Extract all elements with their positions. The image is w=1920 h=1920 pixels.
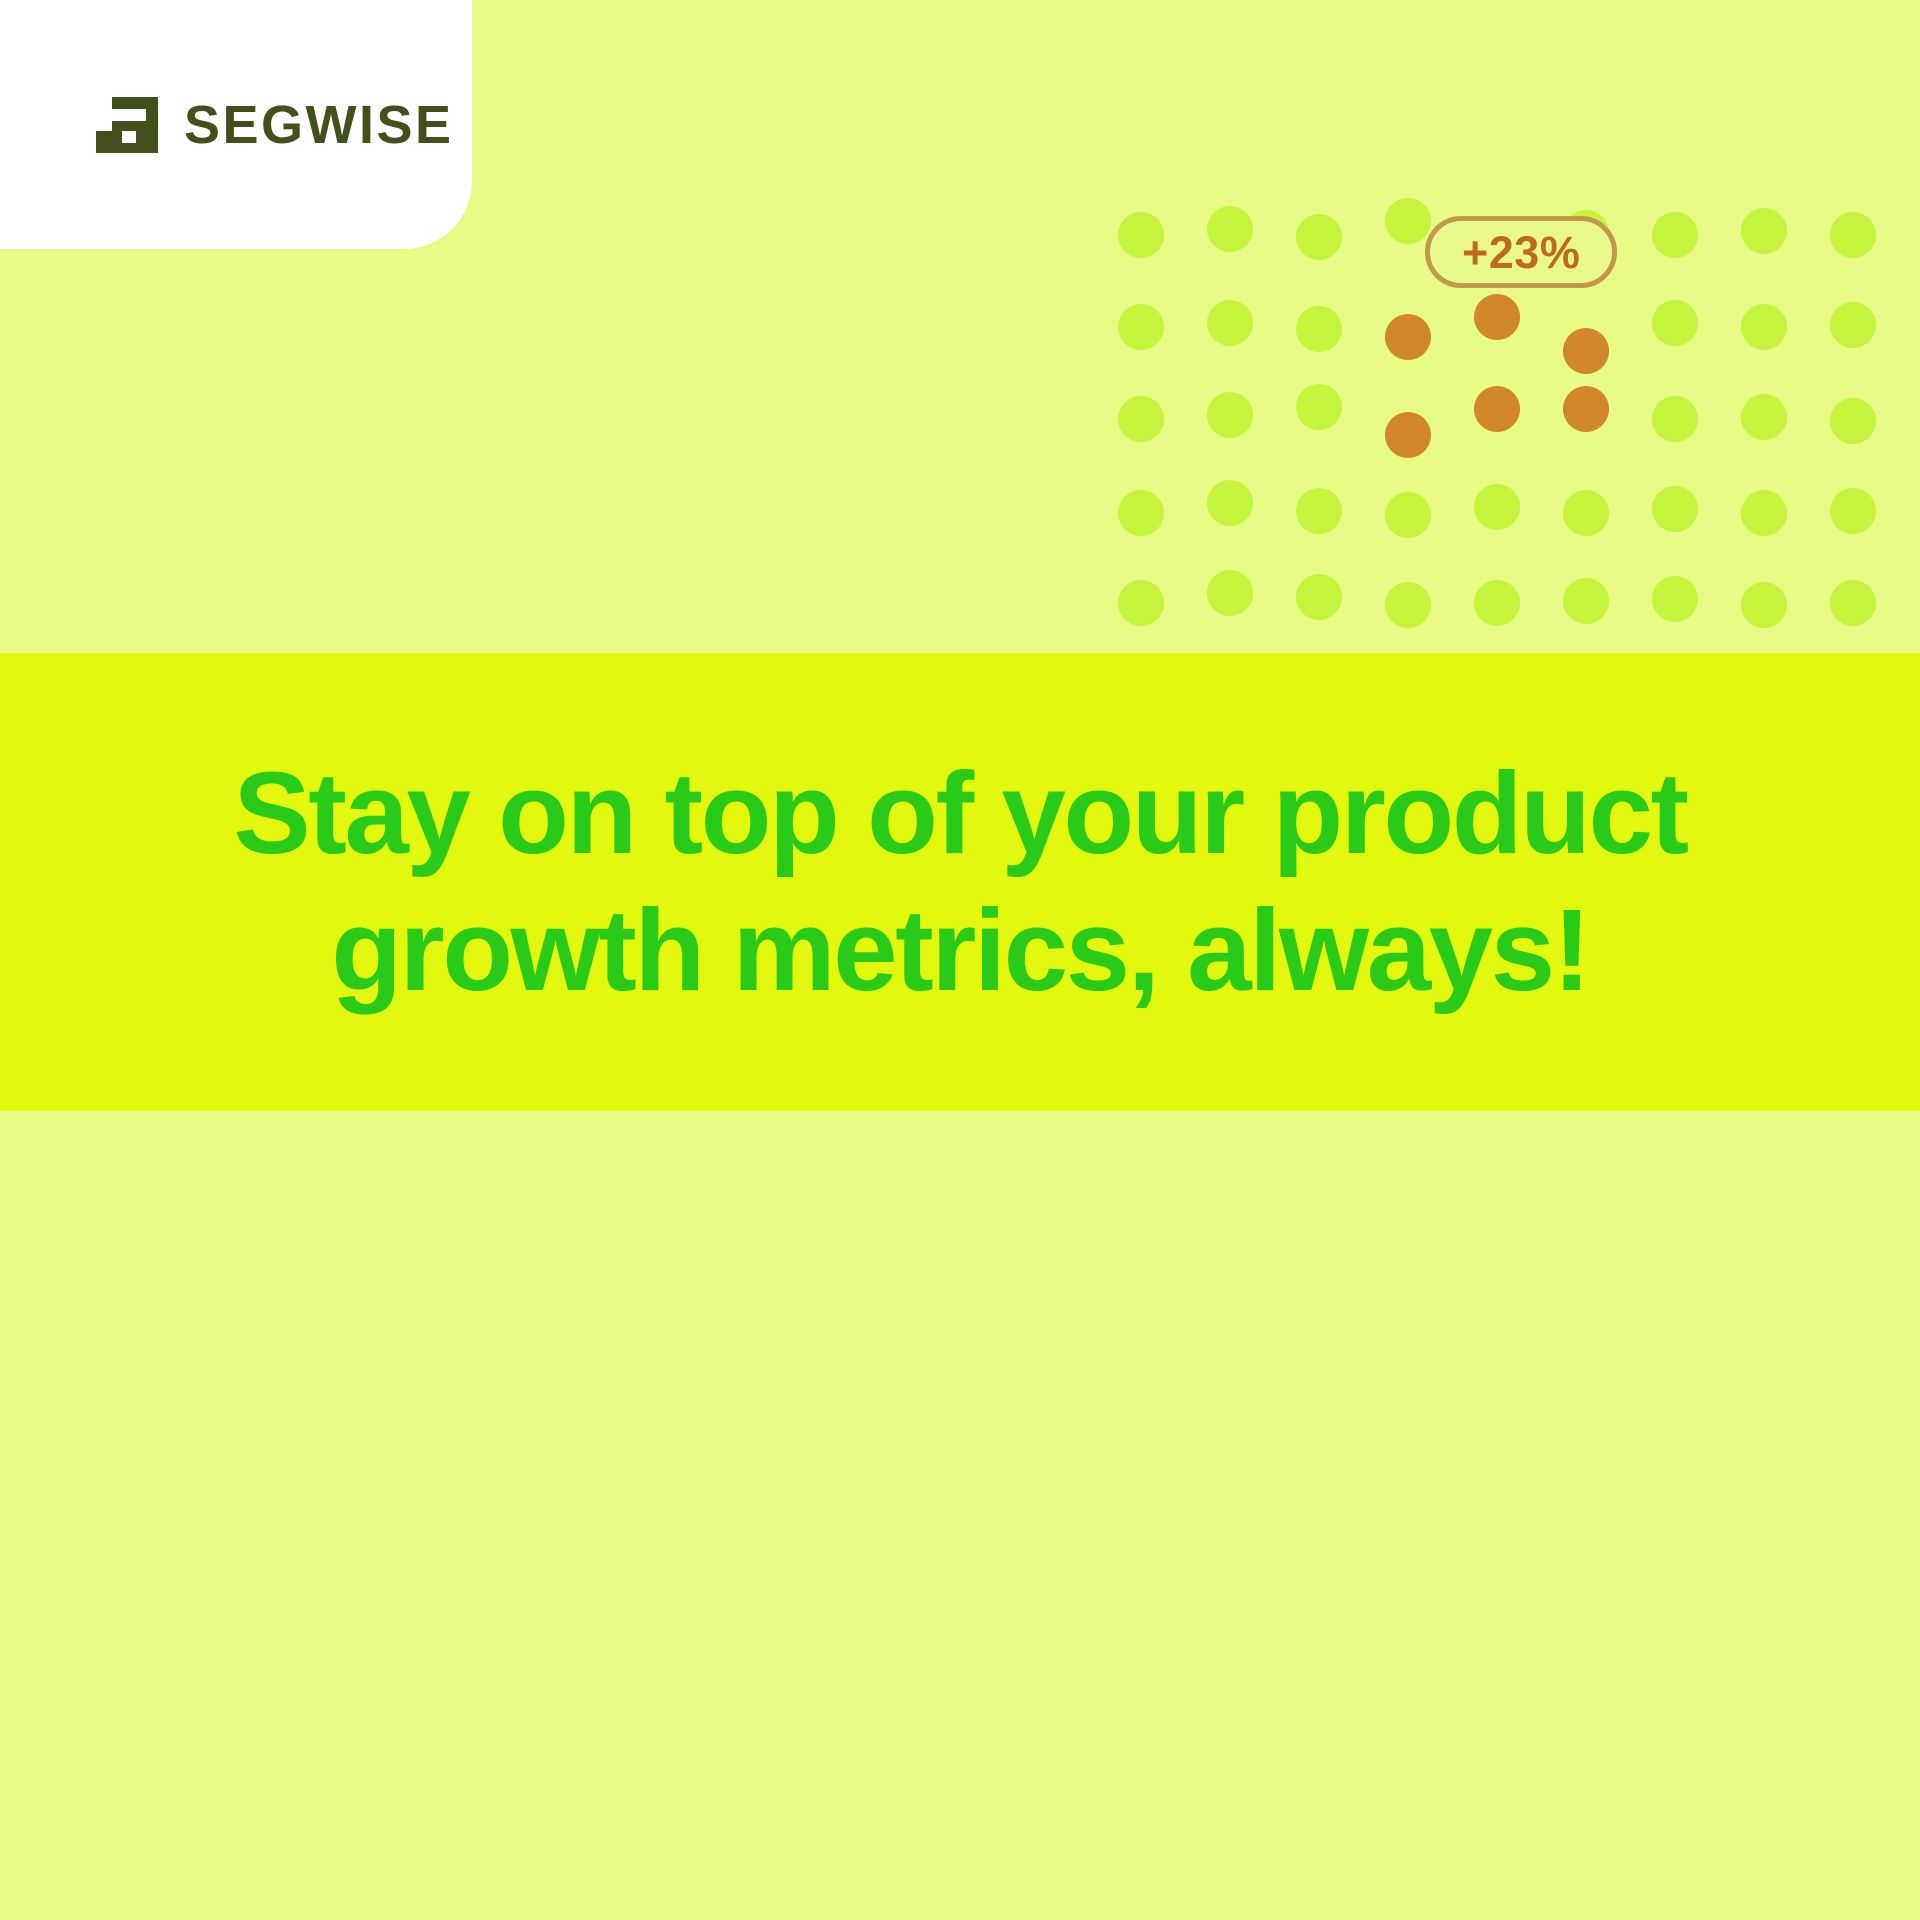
grid-dot-accent (1563, 386, 1609, 432)
grid-dot (1296, 488, 1342, 534)
grid-dot (1118, 304, 1164, 350)
grid-dot (1741, 490, 1787, 536)
grid-dot (1652, 212, 1698, 258)
grid-dot (1296, 214, 1342, 260)
segwise-bar-mark-icon (96, 97, 158, 153)
grid-dot-accent (1563, 328, 1609, 374)
grid-dot-accent (1474, 294, 1520, 340)
grid-dot (1652, 486, 1698, 532)
grid-dot (1474, 484, 1520, 530)
grid-dot (1652, 300, 1698, 346)
headline-line-1: Stay on top of your product (233, 745, 1686, 882)
grid-dot (1741, 582, 1787, 628)
grid-dot (1385, 198, 1431, 244)
grid-dot (1830, 580, 1876, 626)
grid-dot (1830, 398, 1876, 444)
grid-dot (1741, 208, 1787, 254)
grid-dot (1207, 480, 1253, 526)
grid-dot (1830, 488, 1876, 534)
headline-line-2: growth metrics, always! (331, 882, 1589, 1019)
grid-dot (1830, 212, 1876, 258)
grid-dot (1296, 574, 1342, 620)
grid-dot (1563, 490, 1609, 536)
growth-percentage-label: +23% (1462, 230, 1580, 275)
promo-card: SEGWISE (0, 0, 1920, 1920)
grid-dot-accent (1385, 314, 1431, 360)
grid-dot (1830, 302, 1876, 348)
grid-dot (1207, 392, 1253, 438)
grid-dot (1652, 576, 1698, 622)
grid-dot (1385, 582, 1431, 628)
grid-dot (1296, 306, 1342, 352)
grid-dot (1741, 394, 1787, 440)
grid-dot-accent (1385, 412, 1431, 458)
grid-dot (1118, 212, 1164, 258)
grid-dot (1207, 570, 1253, 616)
headline-band: Stay on top of your product growth metri… (0, 653, 1920, 1111)
grid-dot (1207, 300, 1253, 346)
grid-dot (1563, 578, 1609, 624)
grid-dot (1118, 490, 1164, 536)
grid-dot (1741, 304, 1787, 350)
grid-dot (1296, 384, 1342, 430)
grid-dot (1207, 206, 1253, 252)
grid-dot (1385, 492, 1431, 538)
grid-dot (1474, 580, 1520, 626)
grid-dot-accent (1474, 386, 1520, 432)
grid-dot (1118, 396, 1164, 442)
logo-lockup: SEGWISE (96, 97, 454, 153)
grid-dot (1652, 396, 1698, 442)
growth-percentage-badge[interactable]: +23% (1425, 216, 1617, 288)
brand-logo-badge[interactable]: SEGWISE (0, 0, 472, 249)
grid-dot (1118, 580, 1164, 626)
brand-wordmark: SEGWISE (184, 98, 454, 152)
